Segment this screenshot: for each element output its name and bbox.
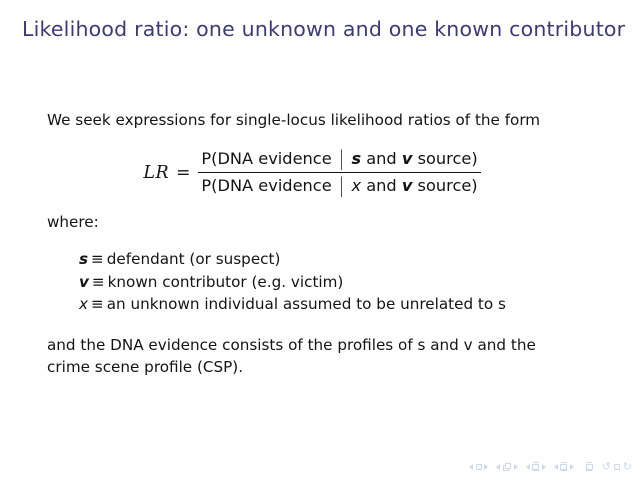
numerator-conditional-bar: |: [337, 145, 346, 173]
equation-lhs: LR: [143, 163, 169, 183]
fraction-numerator: P(DNA evidence | s and v source): [198, 148, 480, 172]
denominator-var1: x: [351, 176, 361, 195]
definition-description: an unknown individual assumed to be unre…: [107, 295, 506, 313]
numerator-var1: s: [351, 149, 361, 168]
previous-section-icon[interactable]: [554, 464, 558, 470]
where-label: where:: [47, 212, 99, 234]
nav-group-subsection[interactable]: [526, 462, 546, 471]
previous-frame-icon[interactable]: [496, 464, 500, 470]
numerator-suffix: source): [418, 149, 478, 168]
intro-paragraph: We seek expressions for single-locus lik…: [47, 110, 540, 132]
closing-paragraph: and the DNA evidence consists of the pro…: [47, 335, 582, 378]
definition-list: s≡defendant (or suspect) v≡known contrib…: [79, 248, 506, 316]
current-frame-icon[interactable]: [503, 463, 512, 471]
back-arrow-icon[interactable]: ↺: [602, 461, 611, 472]
definition-item: x≡an unknown individual assumed to be un…: [79, 293, 506, 316]
about-icon[interactable]: [614, 464, 620, 470]
fraction-denominator: P(DNA evidence | x and v source): [198, 173, 480, 197]
denominator-var2: v: [402, 176, 413, 195]
next-section-icon[interactable]: [570, 464, 574, 470]
numerator-prefix: P(DNA evidence: [201, 149, 331, 168]
slide-title: Likelihood ratio: one unknown and one kn…: [22, 17, 625, 41]
likelihood-ratio-equation: LR = P(DNA evidence | s and v source) P(…: [0, 148, 640, 197]
document-icon[interactable]: [586, 462, 593, 471]
definition-symbol: x: [79, 295, 88, 313]
definition-item: s≡defendant (or suspect): [79, 248, 506, 271]
current-slide-icon[interactable]: [476, 464, 482, 470]
definition-symbol: s: [79, 250, 88, 268]
equation-relation: =: [176, 163, 190, 183]
next-slide-icon[interactable]: [484, 464, 488, 470]
denominator-conditional-bar: |: [337, 172, 346, 200]
definition-description: defendant (or suspect): [107, 250, 281, 268]
definition-relation: ≡: [88, 250, 107, 268]
definition-relation: ≡: [88, 295, 107, 313]
definition-symbol: v: [79, 273, 89, 291]
next-frame-icon[interactable]: [514, 464, 518, 470]
previous-slide-icon[interactable]: [469, 464, 473, 470]
nav-group-frame[interactable]: [496, 463, 518, 471]
numerator-conjunction: and: [366, 149, 396, 168]
previous-subsection-icon[interactable]: [526, 464, 530, 470]
definition-relation: ≡: [89, 273, 108, 291]
definition-description: known contributor (e.g. victim): [108, 273, 344, 291]
next-subsection-icon[interactable]: [542, 464, 546, 470]
definition-item: v≡known contributor (e.g. victim): [79, 271, 506, 294]
equation-fraction: P(DNA evidence | s and v source) P(DNA e…: [198, 148, 480, 197]
denominator-conjunction: and: [366, 176, 396, 195]
nav-group-section[interactable]: [554, 462, 574, 471]
current-subsection-icon[interactable]: [532, 462, 539, 471]
denominator-prefix: P(DNA evidence: [201, 176, 331, 195]
current-section-icon[interactable]: [560, 462, 567, 471]
numerator-var2: v: [402, 149, 413, 168]
nav-group-slide[interactable]: [469, 464, 488, 470]
denominator-suffix: source): [418, 176, 478, 195]
forward-arrow-icon[interactable]: ↻: [623, 461, 632, 472]
beamer-navigation-bar[interactable]: ↺ ↻: [469, 461, 632, 472]
